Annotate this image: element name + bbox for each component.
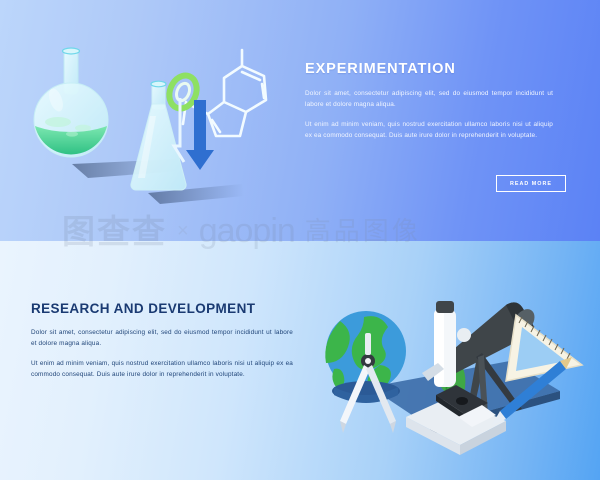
page-title: EXPERIMENTATION	[305, 62, 553, 77]
banner-page: EXPERIMENTATION Dolor sit amet, consecte…	[0, 0, 600, 480]
research-illustration	[310, 299, 590, 469]
section-title: RESEARCH AND DEVELOPMENT	[31, 302, 293, 316]
triangle-ruler-icon	[506, 315, 582, 381]
experimentation-banner: EXPERIMENTATION Dolor sit amet, consecte…	[0, 0, 600, 241]
research-development-banner: RESEARCH AND DEVELOPMENT Dolor sit amet,…	[0, 241, 600, 480]
research-paragraph-2: Ut enim ad minim veniam, quis nostrud ex…	[31, 358, 293, 380]
round-bottom-flask-icon	[34, 48, 108, 157]
read-more-button-top[interactable]: READ MORE	[496, 175, 566, 192]
experimentation-paragraph-1: Dolor sit amet, consectetur adipiscing e…	[305, 88, 553, 110]
molecule-ring-inner-icon	[174, 81, 192, 102]
research-paragraph-1: Dolor sit amet, consectetur adipiscing e…	[31, 327, 293, 349]
research-development-copy: RESEARCH AND DEVELOPMENT Dolor sit amet,…	[31, 302, 293, 389]
experimentation-paragraph-2: Ut enim ad minim veniam, quis nostrud ex…	[305, 119, 553, 141]
experimentation-illustration	[28, 38, 298, 218]
experimentation-copy: EXPERIMENTATION Dolor sit amet, consecte…	[305, 62, 553, 150]
